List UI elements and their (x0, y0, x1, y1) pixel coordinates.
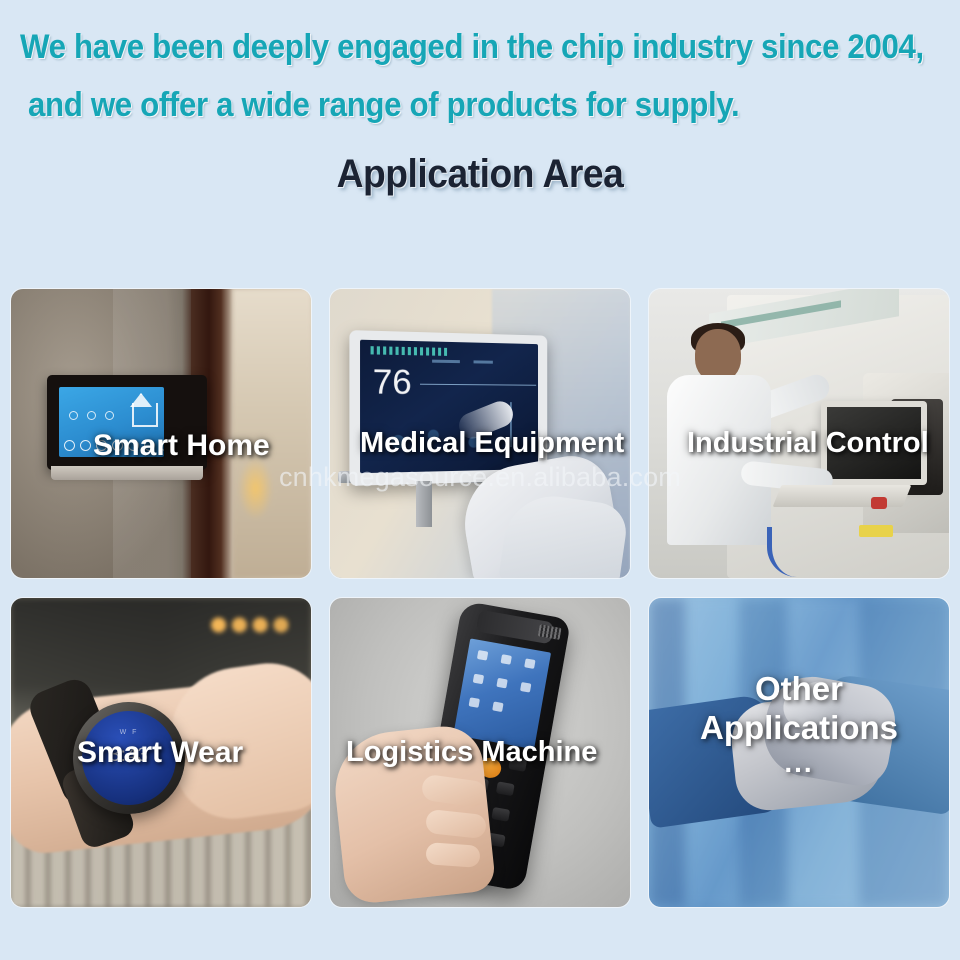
temp-icon (105, 411, 114, 420)
other-label-line-2: Applications (649, 708, 949, 748)
screen-app-icon-5 (496, 678, 507, 689)
terminal-screen (453, 638, 551, 749)
card-label-other-applications: Other Applications ... (649, 670, 949, 778)
control-keyboard (773, 485, 912, 507)
worker-head (695, 329, 741, 381)
monitor-header-bar (371, 346, 447, 356)
patient-monitor: 76 (349, 330, 547, 486)
screen-app-icon-7 (469, 697, 480, 708)
card-label-logistics-machine: Logistics Machine (346, 736, 597, 769)
other-label-line-1: Other (649, 670, 949, 708)
weather-icon (69, 411, 78, 420)
card-label-medical-equipment: Medical Equipment (360, 427, 624, 460)
screen-app-icon-4 (473, 674, 484, 685)
monitor-stand (416, 481, 432, 527)
clock-icon (87, 411, 96, 420)
panel-base (51, 466, 203, 480)
house-icon (132, 403, 158, 427)
card-other-applications[interactable]: Other Applications ... (649, 598, 949, 907)
warm-lights (209, 612, 289, 638)
headline-line-2: and we offer a wide range of products fo… (28, 76, 867, 134)
application-area-page: We have been deeply engaged in the chip … (0, 0, 960, 960)
other-label-line-3: ... (649, 748, 949, 778)
screen-app-icon-1 (477, 650, 488, 661)
light-icon (64, 440, 75, 451)
monitor-trace-line (420, 384, 536, 386)
card-label-smart-home: Smart Home (93, 429, 270, 463)
card-medical-equipment[interactable]: 76 Medical Equipment (330, 289, 630, 578)
card-label-industrial-control: Industrial Control (687, 427, 929, 460)
headline-line-1: We have been deeply engaged in the chip … (20, 18, 866, 76)
finger-3 (425, 842, 480, 868)
fan-icon (80, 440, 91, 451)
screen-app-icon-6 (520, 682, 531, 693)
watch-subtext: W F (82, 729, 176, 736)
card-smart-home[interactable]: Smart Home (11, 289, 311, 578)
card-logistics-machine[interactable]: Logistics Machine (330, 598, 630, 907)
headline-block: We have been deeply engaged in the chip … (0, 18, 960, 134)
card-industrial-control[interactable]: Industrial Control (649, 289, 949, 578)
yellow-marker (859, 525, 893, 537)
worker-lab-coat (667, 375, 771, 545)
page-title: Application Area (34, 152, 927, 197)
monitor-tick-1 (432, 360, 460, 363)
screen-app-icon-8 (492, 701, 503, 712)
card-smart-wear[interactable]: W F 3:43 Smart Wear (11, 598, 311, 907)
screen-app-icon-2 (501, 654, 512, 665)
monitor-reading: 76 (373, 365, 412, 400)
application-card-grid: Smart Home 76 (11, 289, 949, 907)
screen-app-icon-3 (524, 658, 535, 669)
card-label-smart-wear: Smart Wear (77, 736, 243, 770)
terminal-key-5 (496, 781, 515, 796)
emergency-button (871, 497, 887, 509)
blue-cable (767, 527, 832, 577)
terminal-key-8 (491, 807, 510, 822)
monitor-tick-2 (474, 360, 493, 363)
